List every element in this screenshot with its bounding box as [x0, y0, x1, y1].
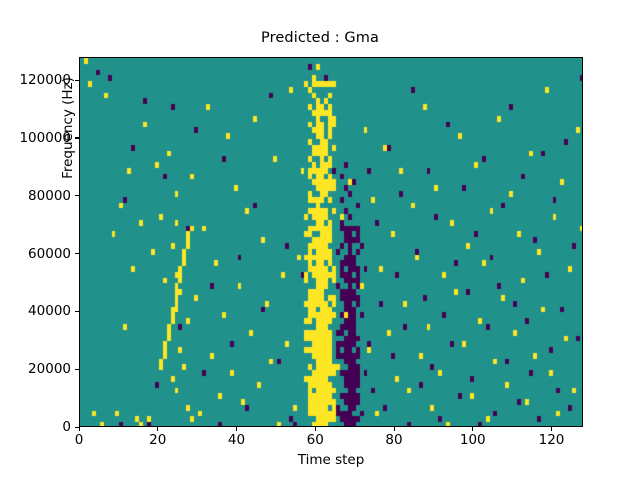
y-tick-label: 60000 — [28, 246, 71, 262]
x-tick-label: 40 — [228, 432, 245, 448]
y-tick-mark — [75, 427, 79, 428]
x-tick-label: 80 — [385, 432, 402, 448]
y-tick-label: 100000 — [19, 130, 71, 146]
y-tick-mark — [75, 311, 79, 312]
x-tick-mark — [551, 427, 552, 431]
x-axis-label: Time step — [79, 452, 583, 468]
y-tick-label: 120000 — [19, 72, 71, 88]
y-tick-mark — [75, 80, 79, 81]
y-tick-mark — [75, 253, 79, 254]
x-tick-label: 0 — [75, 432, 84, 448]
chart-title: Predicted : Gma — [0, 30, 640, 46]
y-tick-label: 20000 — [28, 361, 71, 377]
y-tick-label: 80000 — [28, 188, 71, 204]
x-tick-mark — [157, 427, 158, 431]
heatmap-canvas — [80, 58, 583, 427]
matplotlib-figure: Predicted : Gma Time step Frequency (Hz)… — [0, 0, 640, 480]
y-tick-mark — [75, 369, 79, 370]
x-tick-label: 20 — [149, 432, 166, 448]
y-tick-label: 40000 — [28, 303, 71, 319]
y-tick-mark — [75, 195, 79, 196]
x-tick-mark — [236, 427, 237, 431]
x-tick-mark — [472, 427, 473, 431]
y-tick-label: 0 — [62, 419, 71, 435]
x-tick-label: 120 — [539, 432, 565, 448]
x-tick-label: 60 — [307, 432, 324, 448]
x-tick-mark — [394, 427, 395, 431]
x-tick-label: 100 — [460, 432, 486, 448]
heatmap-axes — [79, 57, 583, 427]
y-tick-mark — [75, 137, 79, 138]
x-tick-mark — [315, 427, 316, 431]
